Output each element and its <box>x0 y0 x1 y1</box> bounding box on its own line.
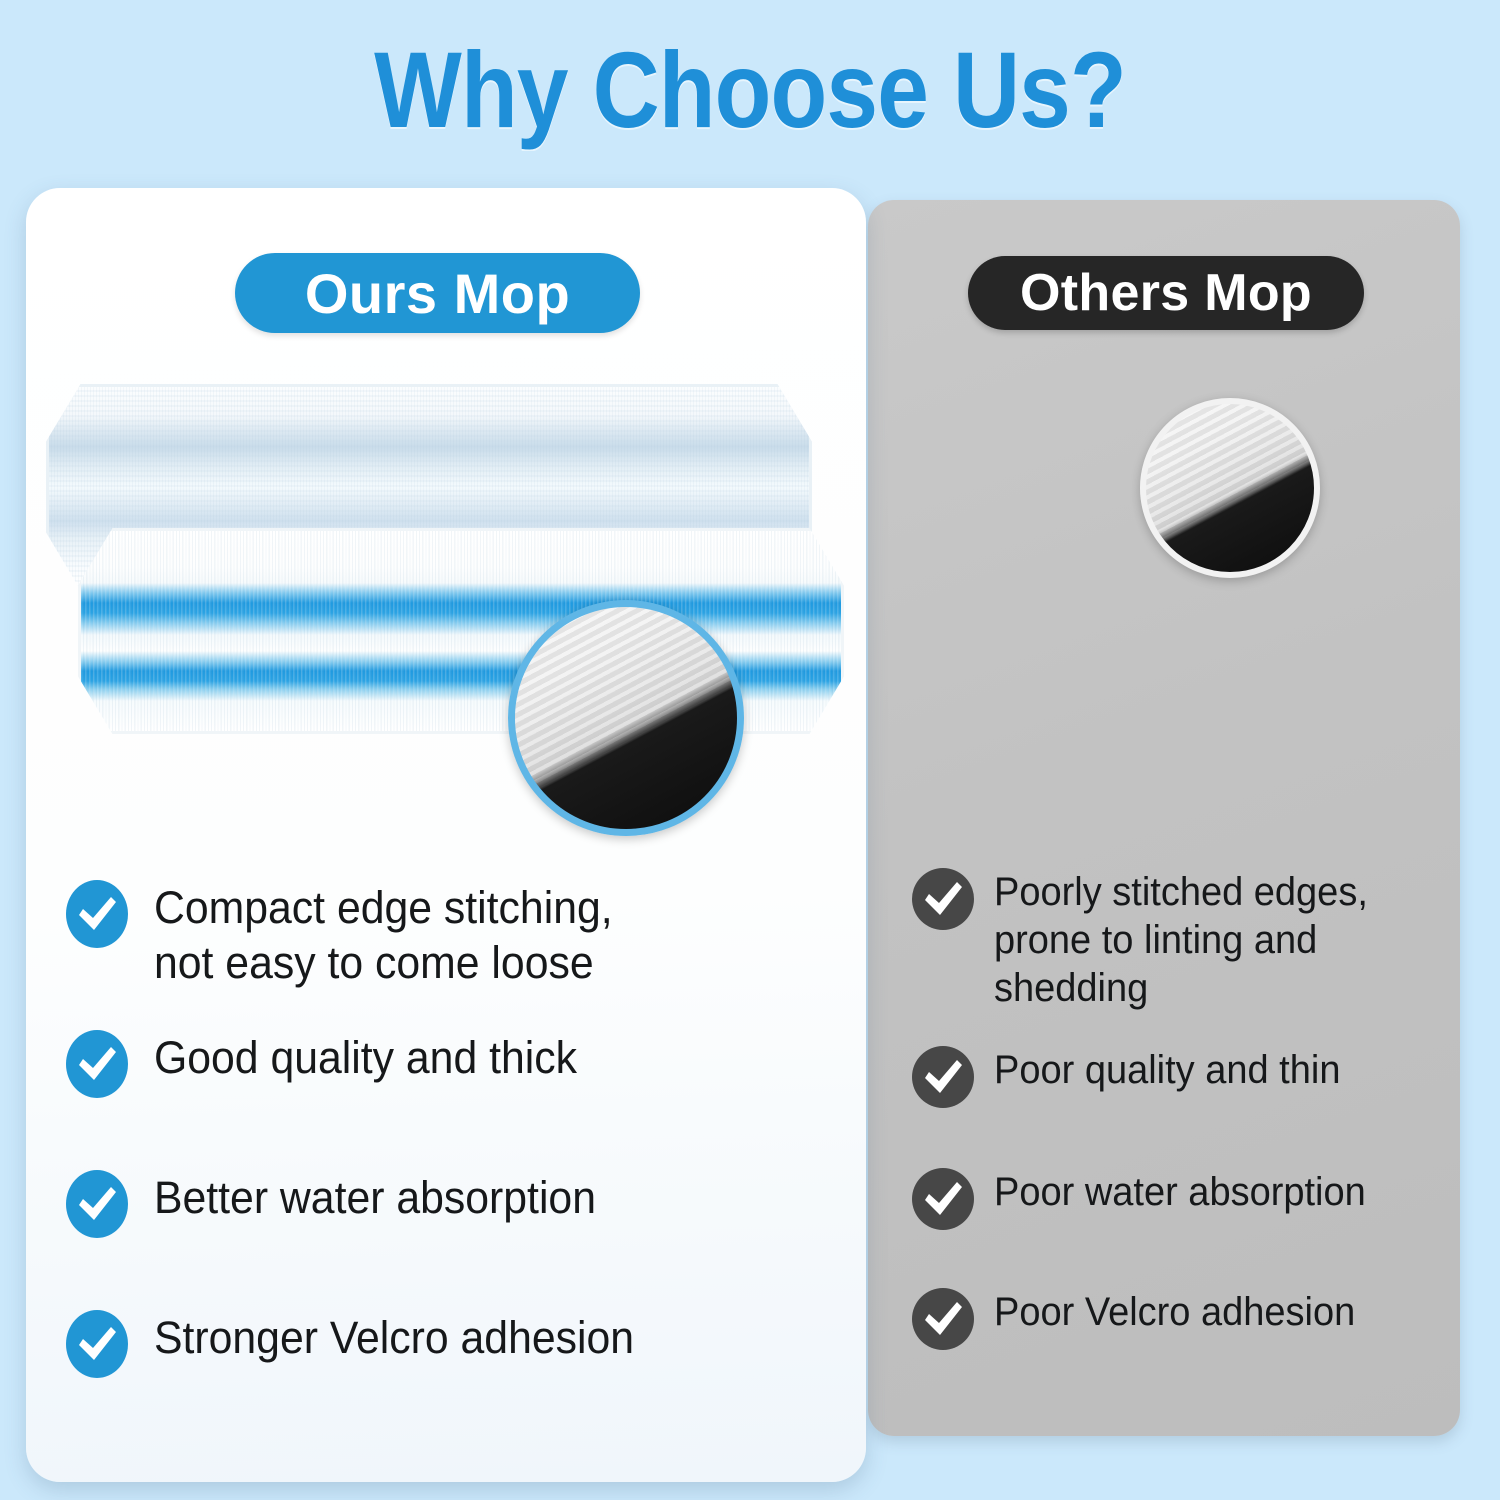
check-icon <box>912 1168 974 1230</box>
check-icon <box>912 868 974 930</box>
page-title: Why Choose Us? <box>105 30 1395 150</box>
others-mop-badge: Others Mop <box>968 256 1364 330</box>
others-feature-row: Poor quality and thin <box>912 1046 1359 1108</box>
ours-feature-label: Compact edge stitching,not easy to come … <box>154 880 613 990</box>
ours-feature-row: Compact edge stitching,not easy to come … <box>66 880 637 990</box>
ours-badge-label: Ours Mop <box>305 261 570 326</box>
others-feature-row: Poor water absorption <box>912 1168 1385 1230</box>
others-feature-label: Poorly stitched edges,prone to linting a… <box>994 868 1368 1012</box>
others-feature-row: Poorly stitched edges,prone to linting a… <box>912 868 1388 1012</box>
ours-feature-row: Better water absorption <box>66 1170 619 1238</box>
others-zoom-inset <box>1140 398 1320 578</box>
ours-zoom-inset <box>508 600 744 836</box>
check-icon <box>66 880 128 948</box>
ours-feature-row: Good quality and thick <box>66 1030 599 1098</box>
check-icon <box>912 1288 974 1350</box>
ours-feature-label: Better water absorption <box>154 1170 596 1225</box>
others-fiber-texture <box>1146 404 1314 572</box>
ours-feature-row: Stronger Velcro adhesion <box>66 1310 659 1378</box>
check-icon <box>66 1310 128 1378</box>
check-icon <box>912 1046 974 1108</box>
others-badge-label: Others Mop <box>1020 263 1312 323</box>
ours-product-image <box>26 372 866 852</box>
others-feature-label: Poor Velcro adhesion <box>994 1288 1355 1336</box>
check-icon <box>66 1030 128 1098</box>
ours-fiber-texture <box>515 607 737 829</box>
others-feature-label: Poor water absorption <box>994 1168 1366 1216</box>
ours-mop-badge: Ours Mop <box>235 253 640 333</box>
ours-feature-label: Stronger Velcro adhesion <box>154 1310 634 1365</box>
ours-feature-label: Good quality and thick <box>154 1030 577 1085</box>
others-feature-label: Poor quality and thin <box>994 1046 1340 1094</box>
ours-panel <box>26 188 866 1482</box>
others-panel <box>868 200 1460 1436</box>
others-feature-row: Poor Velcro adhesion <box>912 1288 1374 1350</box>
check-icon <box>66 1170 128 1238</box>
